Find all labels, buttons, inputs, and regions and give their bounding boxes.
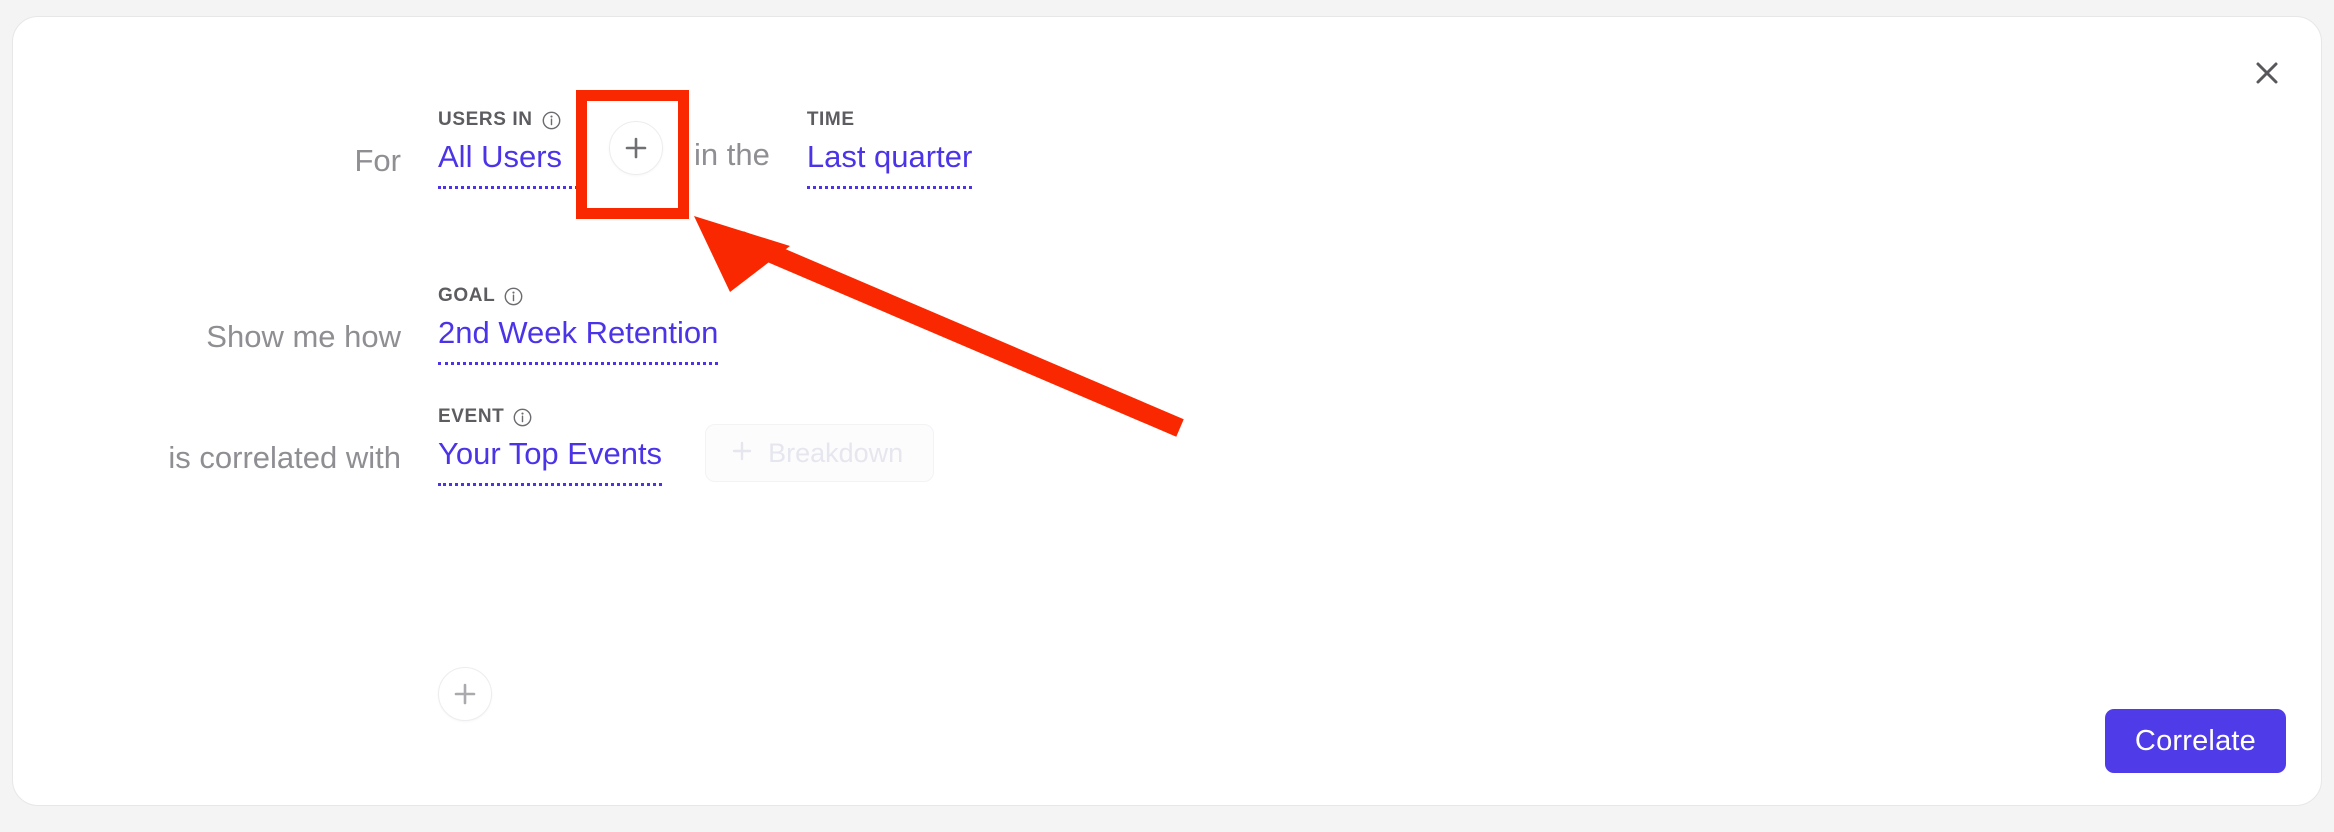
field-label-text: TIME <box>807 109 855 131</box>
field-label-text: EVENT <box>438 406 504 428</box>
close-icon <box>2252 58 2282 88</box>
add-users-filter-plus-button[interactable] <box>609 121 663 175</box>
add-clause-wrap <box>438 667 492 721</box>
close-button[interactable] <box>2243 49 2291 97</box>
plus-icon <box>730 439 754 468</box>
correlation-builder-card: For USERS IN All Users <box>12 16 2322 806</box>
row-lead-text: is correlated with <box>13 439 401 486</box>
info-icon[interactable] <box>513 408 532 427</box>
field-time: TIME Last quarter <box>807 109 972 189</box>
query-row-event: is correlated with EVENT Your Top Event <box>13 410 934 486</box>
field-label-time: TIME <box>807 109 972 131</box>
field-value-event[interactable]: Your Top Events <box>438 434 662 486</box>
add-breakdown-button[interactable]: Breakdown <box>705 424 934 482</box>
add-clause-button[interactable] <box>438 667 492 721</box>
correlate-button[interactable]: Correlate <box>2105 709 2286 773</box>
plus-icon <box>623 135 649 161</box>
row-lead-text: Show me how <box>13 318 401 365</box>
row-lead-text: For <box>13 142 401 189</box>
field-event: EVENT Your Top Events <box>438 406 662 486</box>
row-connector-text: in the <box>694 136 770 189</box>
field-label-text: GOAL <box>438 285 495 307</box>
query-row-goal: Show me how GOAL 2nd Week Retention <box>13 289 718 365</box>
screen: For USERS IN All Users <box>0 0 2334 832</box>
info-icon[interactable] <box>542 111 561 130</box>
field-label-goal: GOAL <box>438 285 718 307</box>
add-users-filter-wrap <box>609 113 663 189</box>
field-label-text: USERS IN <box>438 109 533 131</box>
field-label-users-in: USERS IN <box>438 109 578 131</box>
field-value-goal[interactable]: 2nd Week Retention <box>438 313 718 365</box>
field-users-in: USERS IN All Users <box>438 109 578 189</box>
field-value-users-in[interactable]: All Users <box>438 137 578 189</box>
info-icon[interactable] <box>504 287 523 306</box>
field-value-time[interactable]: Last quarter <box>807 137 972 189</box>
field-label-event: EVENT <box>438 406 662 428</box>
plus-icon <box>452 681 478 707</box>
breakdown-label: Breakdown <box>768 438 903 469</box>
field-goal: GOAL 2nd Week Retention <box>438 285 718 365</box>
query-row-users: For USERS IN All Users <box>13 113 972 189</box>
